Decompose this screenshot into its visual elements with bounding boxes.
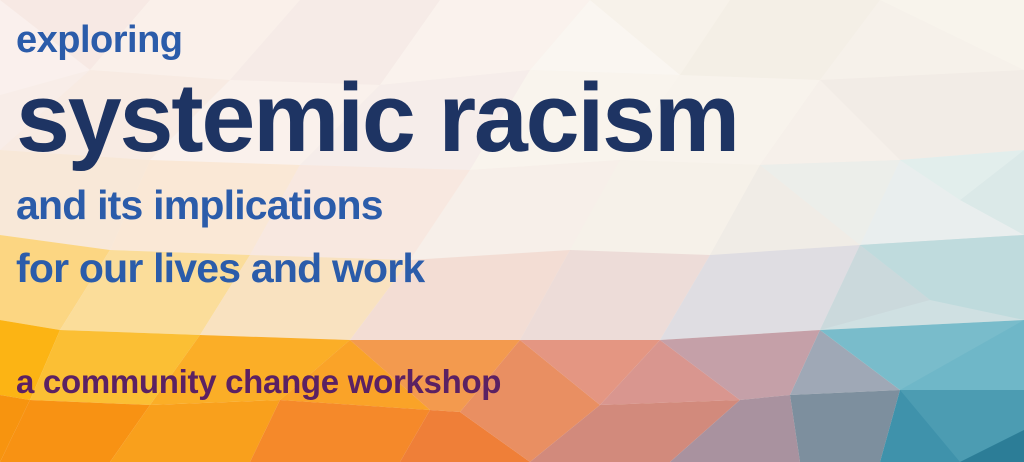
headline-text: systemic racism <box>16 69 738 166</box>
workshop-banner: exploring systemic racism and its implic… <box>0 0 1024 462</box>
subheadline-line-2: for our lives and work <box>16 245 424 292</box>
text-layer: exploring systemic racism and its implic… <box>0 0 1024 462</box>
tagline-text: a community change workshop <box>16 363 501 401</box>
eyebrow-text: exploring <box>16 19 183 62</box>
subheadline-line-1: and its implications <box>16 182 383 229</box>
